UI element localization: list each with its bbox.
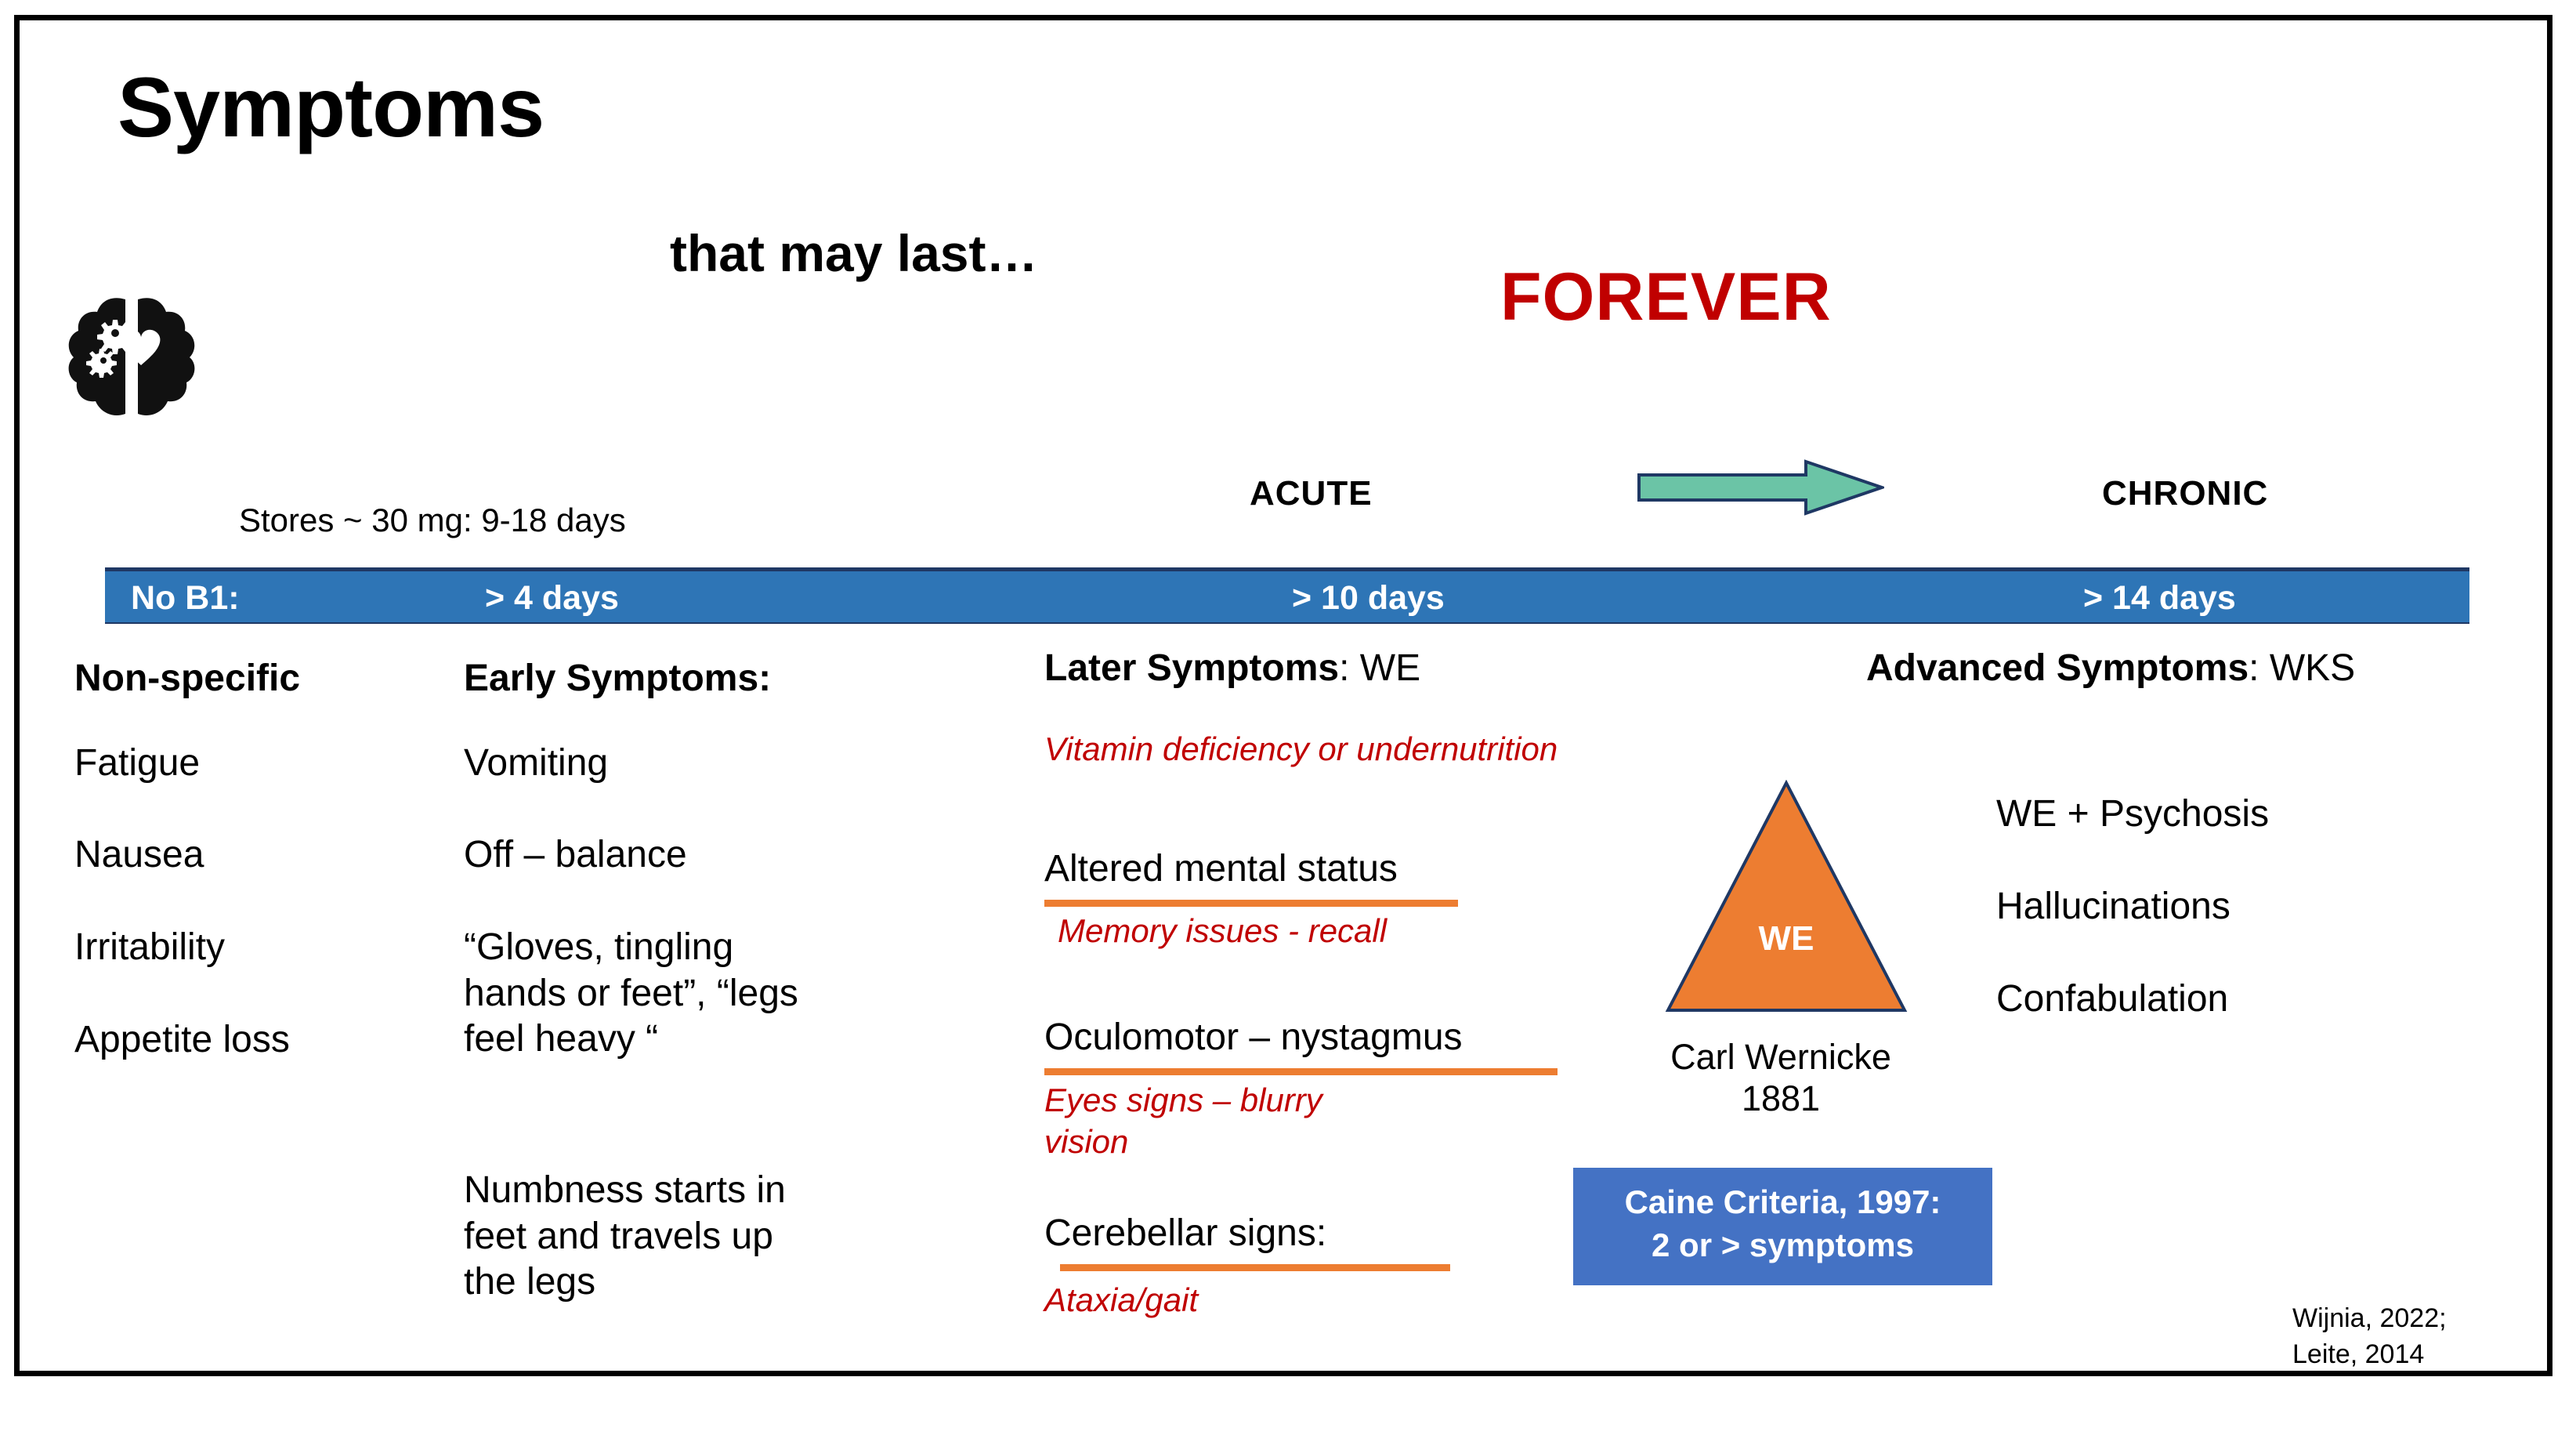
column-heading-advanced-symptoms-bold: Advanced Symptoms — [1866, 647, 2249, 689]
citation-line-1: Wijnia, 2022; — [2292, 1301, 2447, 1337]
symptom-note-ataxia-gait: Ataxia/gait — [1044, 1280, 1198, 1321]
column-heading-non-specific: Non-specific — [74, 657, 300, 700]
caine-criteria-line2: 2 or > symptoms — [1573, 1223, 1992, 1266]
column-heading-later-symptoms-suffix: : WE — [1339, 647, 1420, 689]
list-item: WE + Psychosis — [1996, 792, 2269, 838]
list-item: Confabulation — [1996, 977, 2228, 1023]
stage-label-chronic: CHRONIC — [2102, 474, 2268, 513]
column-heading-later-symptoms-bold: Later Symptoms — [1044, 647, 1339, 689]
list-item: Off – balance — [464, 832, 687, 879]
list-item: Hallucinations — [1996, 884, 2230, 930]
right-block-arrow-icon — [1637, 459, 1884, 516]
slide-canvas: Symptoms that may last… FOREVER Stores ~… — [0, 0, 2576, 1435]
symptom-cerebellar-signs: Cerebellar signs: — [1044, 1211, 1326, 1257]
subtitle-that-may-last: that may last… — [670, 223, 1037, 283]
symptom-note-eye-signs: Eyes signs – blurry vision — [1044, 1080, 1373, 1162]
orange-underline-rule — [1060, 1264, 1450, 1271]
brain-gears-heart-icon — [61, 288, 202, 429]
we-triangle-label: WE — [1665, 919, 1908, 958]
banner-duration-early: > 4 days — [485, 579, 619, 618]
wernicke-attribution: Carl Wernicke 1881 — [1652, 1036, 1910, 1119]
caine-criteria-line1: Caine Criteria, 1997: — [1573, 1180, 1992, 1223]
page-title: Symptoms — [118, 63, 544, 151]
we-triangle-icon: WE — [1665, 780, 1908, 1015]
symptom-altered-mental-status: Altered mental status — [1044, 846, 1398, 893]
banner-duration-chronic: > 14 days — [2083, 579, 2236, 618]
wernicke-attribution-name: Carl Wernicke — [1652, 1036, 1910, 1078]
citation-line-2: Leite, 2014 — [2292, 1337, 2447, 1373]
list-item: Numbness starts in feet and travels up t… — [464, 1168, 832, 1306]
list-item: Fatigue — [74, 741, 200, 787]
later-symptoms-subtitle: Vitamin deficiency or undernutrition — [1044, 729, 1558, 770]
column-heading-advanced-symptoms-suffix: : WKS — [2249, 647, 2355, 689]
stage-label-acute: ACUTE — [1250, 474, 1373, 513]
orange-underline-rule — [1044, 900, 1458, 907]
list-item: Nausea — [74, 832, 204, 879]
duration-banner: No B1: > 4 days > 10 days > 14 days — [105, 567, 2469, 624]
column-heading-advanced-symptoms: Advanced Symptoms: WKS — [1866, 647, 2355, 690]
symptom-oculomotor-nystagmus: Oculomotor – nystagmus — [1044, 1015, 1463, 1061]
citation: Wijnia, 2022; Leite, 2014 — [2292, 1301, 2447, 1373]
wernicke-attribution-year: 1881 — [1652, 1078, 1910, 1119]
banner-duration-acute: > 10 days — [1292, 579, 1445, 618]
list-item: “Gloves, tingling hands or feet”, “legs … — [464, 925, 832, 1063]
emphasis-forever: FOREVER — [1500, 259, 1832, 336]
slide-frame-border — [14, 15, 2552, 1376]
column-heading-later-symptoms: Later Symptoms: WE — [1044, 647, 1420, 690]
list-item: Irritability — [74, 925, 225, 971]
banner-label-no-b1: No B1: — [131, 579, 240, 618]
symptom-note-memory-issues: Memory issues - recall — [1058, 911, 1387, 952]
list-item: Vomiting — [464, 741, 608, 787]
list-item: Appetite loss — [74, 1017, 290, 1064]
orange-underline-rule — [1044, 1068, 1558, 1075]
column-heading-early-symptoms: Early Symptoms: — [464, 657, 771, 700]
caine-criteria-box: Caine Criteria, 1997: 2 or > symptoms — [1573, 1168, 1992, 1285]
stores-note: Stores ~ 30 mg: 9-18 days — [239, 502, 626, 539]
